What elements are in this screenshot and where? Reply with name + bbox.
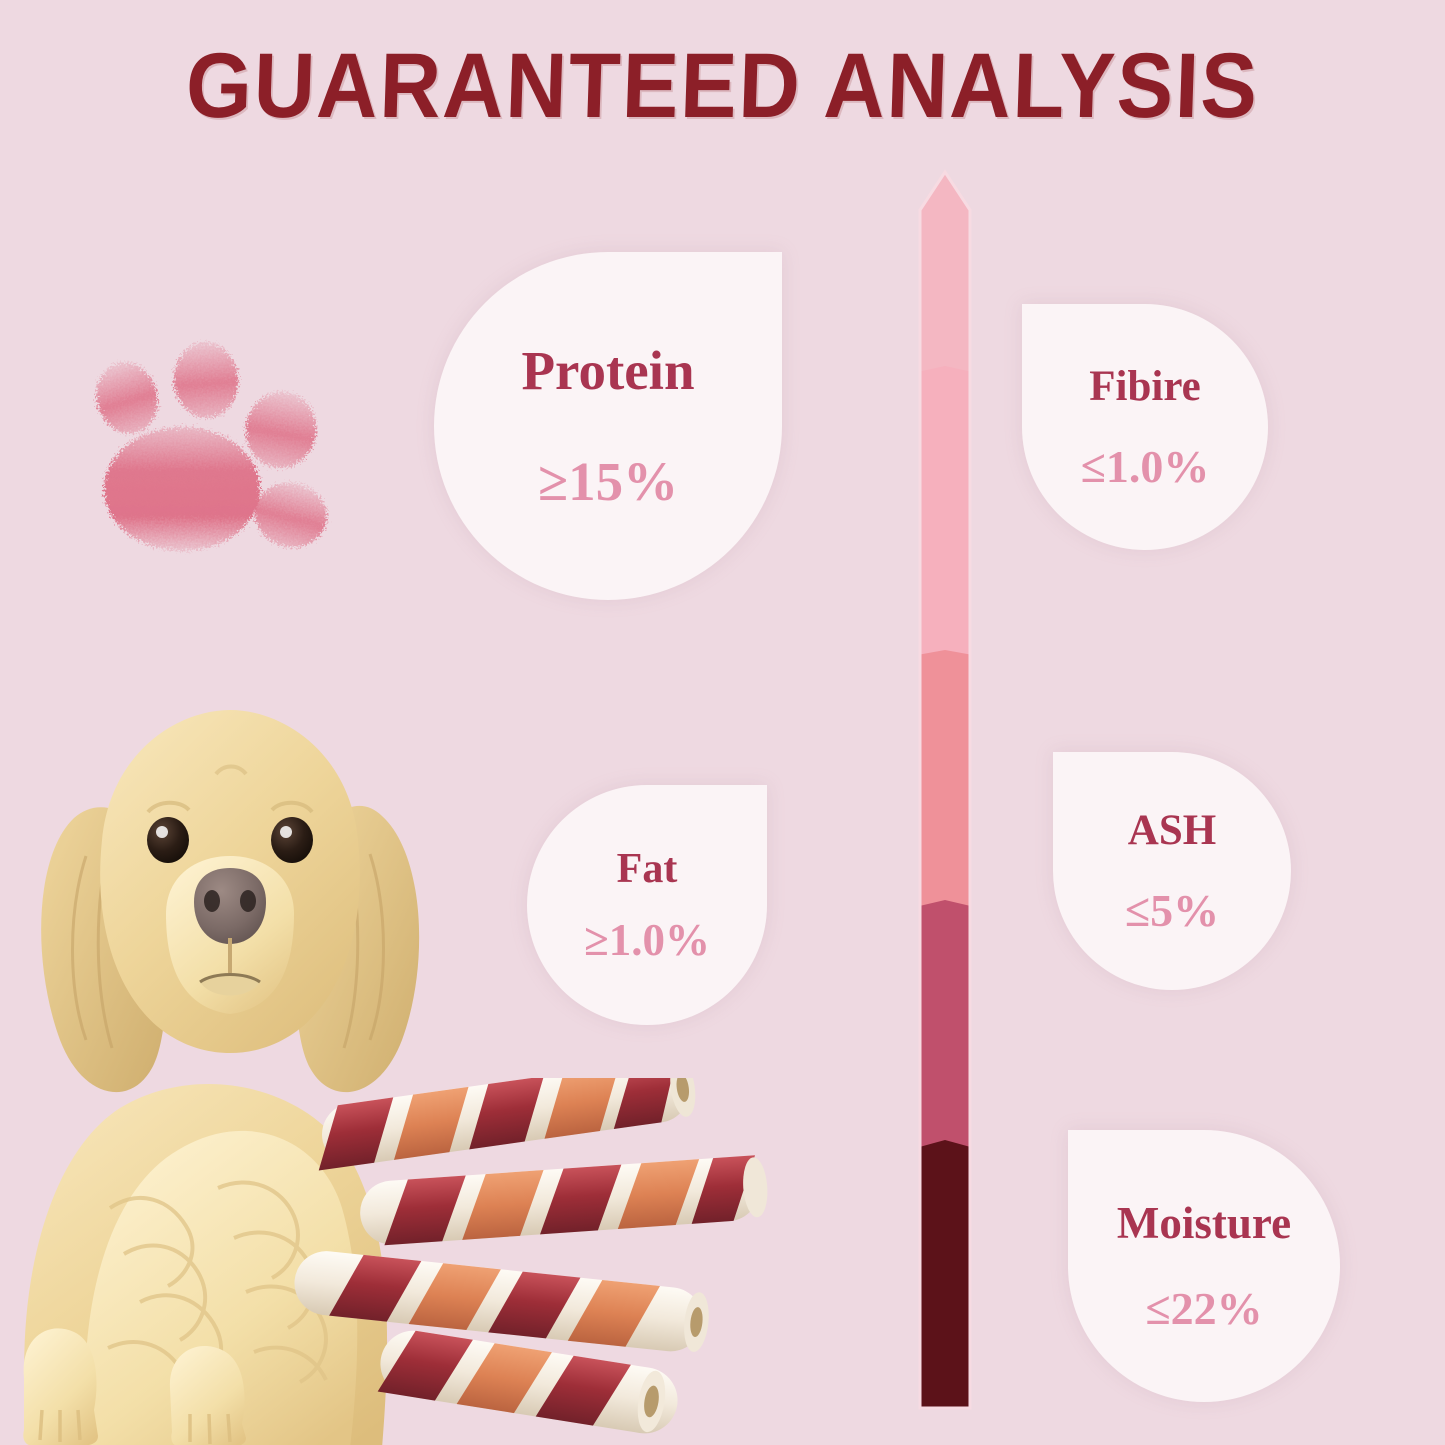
nutrient-label-fibire: Fibire xyxy=(1089,365,1200,408)
poster-canvas: GUARANTEED ANALYSIS xyxy=(0,0,1445,1445)
paw-print-icon xyxy=(82,332,348,582)
gauge-bar xyxy=(890,160,1000,1420)
nutrient-label-protein: Protein xyxy=(521,343,694,398)
wrapped-dog-chew-treats xyxy=(278,1078,808,1445)
gauge-segment-5 xyxy=(890,1140,1000,1420)
nutrient-value-ash: ≤5% xyxy=(1125,888,1219,934)
nutrient-bubble-moisture[interactable]: Moisture ≤22% xyxy=(1068,1130,1340,1402)
nutrient-value-fibire: ≤1.0% xyxy=(1081,444,1210,490)
nutrient-value-protein: ≥15% xyxy=(538,454,678,509)
nutrient-label-ash: ASH xyxy=(1128,809,1216,852)
gauge-segment-2 xyxy=(890,366,1000,660)
gauge-segment-4 xyxy=(890,900,1000,1155)
nutrient-label-fat: Fat xyxy=(617,848,678,890)
nutrient-value-moisture: ≤22% xyxy=(1145,1286,1262,1332)
nutrient-bubble-fat[interactable]: Fat ≥1.0% xyxy=(527,785,767,1025)
nutrient-bubble-protein[interactable]: Protein ≥15% xyxy=(434,252,782,600)
nutrient-label-moisture: Moisture xyxy=(1117,1201,1291,1246)
page-title: GUARANTEED ANALYSIS xyxy=(56,34,1389,139)
gauge-segment-3 xyxy=(890,650,1000,915)
nutrient-bubble-ash[interactable]: ASH ≤5% xyxy=(1053,752,1291,990)
nutrient-value-fat: ≥1.0% xyxy=(584,918,710,963)
gauge-segment-1 xyxy=(890,160,1000,380)
nutrient-bubble-fibire[interactable]: Fibire ≤1.0% xyxy=(1022,304,1268,550)
